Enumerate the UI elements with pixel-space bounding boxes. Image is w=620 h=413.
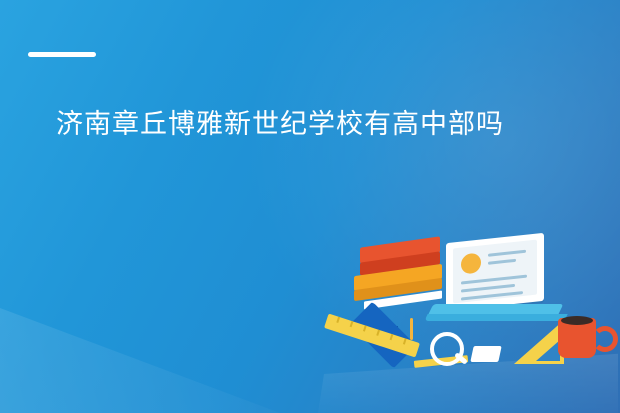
- laptop-icon: [446, 233, 544, 311]
- graduation-cap-tassel: [410, 318, 413, 340]
- screen-text-line: [461, 291, 523, 301]
- triangle-ruler-cutout: [536, 340, 560, 361]
- coffee-surface: [561, 316, 593, 325]
- screen-text-line: [488, 250, 526, 257]
- banner-canvas: 济南章丘博雅新世纪学校有高中部吗: [0, 0, 620, 413]
- screen-text-line: [488, 259, 516, 265]
- screen-text-line: [461, 275, 527, 285]
- coffee-mug-handle: [592, 326, 618, 352]
- screen-text-line: [461, 284, 515, 293]
- education-desk-illustration: [318, 200, 618, 413]
- accent-bar: [28, 52, 96, 57]
- page-title: 济南章丘博雅新世纪学校有高中部吗: [56, 104, 576, 144]
- screen-avatar-dot: [461, 252, 481, 274]
- laptop-screen: [453, 240, 537, 304]
- magnifier-icon: [430, 332, 464, 366]
- eraser-icon: [470, 346, 501, 362]
